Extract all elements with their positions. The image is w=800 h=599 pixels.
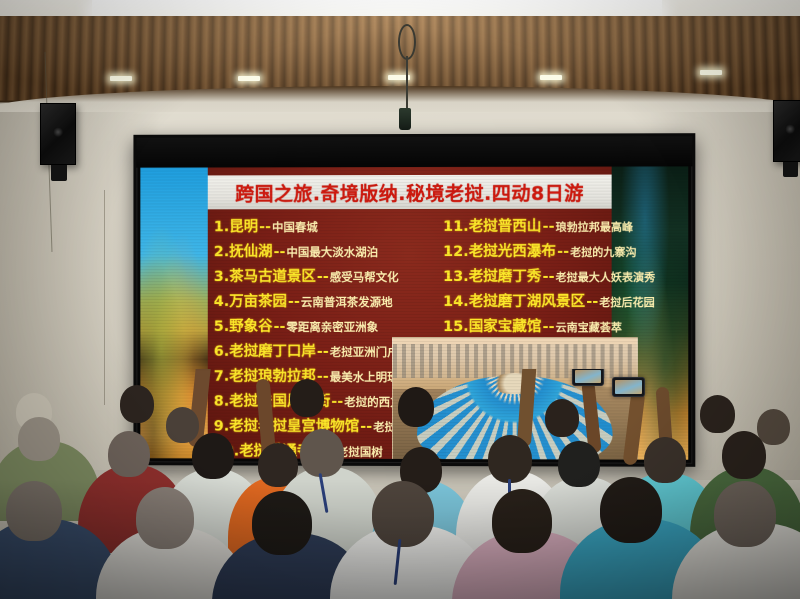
audience-head [714,481,776,547]
item-title: 老挝普西山 [469,215,542,240]
speaker-bracket-right [783,162,798,177]
item-separator: -- [316,265,330,290]
item-title: 老挝磨丁湖风景区 [469,290,585,315]
item-separator: -- [258,215,272,240]
list-item: 13. 老挝磨丁秀 -- 老挝最大人妖表演秀 [443,265,688,290]
item-number: 12. [443,240,469,265]
audience-head [290,379,324,417]
item-number: 13. [443,265,469,290]
item-separator: -- [272,240,286,265]
smartphone [612,377,645,397]
audience-head [192,433,234,479]
audience-head [488,435,532,483]
item-number: 6. [214,340,230,365]
item-subtitle: 云南普洱茶发源地 [301,290,393,315]
raised-arm [517,369,537,447]
audience-head [300,429,344,477]
itinerary-column-right: 11. 老挝普西山 -- 琅勃拉邦最高峰 12. 老挝光西瀑布 -- 老挝的九寨… [443,215,688,341]
smartphone [572,369,604,386]
list-item: 12. 老挝光西瀑布 -- 老挝的九寨沟 [443,240,688,265]
item-separator: -- [316,340,330,365]
slide-title: 跨国之旅.奇境版纳.秘境老挝.四动8日游 [235,178,584,206]
item-title: 茶马古道景区 [229,265,316,290]
hanging-cable-loop [398,24,416,60]
item-number: 14. [443,290,469,315]
ceiling-light-icon-2 [238,76,260,81]
item-separator: -- [556,240,570,265]
list-item: 11. 老挝普西山 -- 琅勃拉邦最高峰 [443,215,688,240]
audience-head [492,489,552,553]
item-separator: -- [541,215,555,240]
item-title: 野象谷 [229,315,272,340]
audience-head [644,437,686,483]
list-item: 1. 昆明 -- 中国春城 [214,215,441,240]
item-subtitle: 感受马帮文化 [330,265,399,290]
audience-head [722,431,766,479]
item-separator: -- [541,265,555,290]
item-subtitle: 琅勃拉邦最高峰 [556,215,633,240]
item-subtitle: 老挝亚洲门户 [330,340,399,365]
list-item: 3. 茶马古道景区 -- 感受马帮文化 [214,265,441,290]
screen-bezel-top [136,136,692,167]
audience-crowd [0,369,800,599]
speaker-bracket-left [51,165,67,181]
audience-head [757,409,790,445]
item-title: 昆明 [229,215,258,240]
phone-screen [615,380,642,394]
item-separator: -- [287,290,301,315]
hanging-cable-line [406,56,408,111]
audience-head [108,431,150,477]
item-subtitle: 老挝的九寨沟 [570,240,636,265]
phone-screen [575,370,601,383]
wall-speaker-right [773,100,800,162]
item-number: 5. [214,315,230,340]
item-number: 3. [214,265,230,290]
audience-head [18,417,60,461]
list-item: 4. 万亩茶园 -- 云南普洱茶发源地 [214,290,441,315]
slide-title-strip: 跨国之旅.奇境版纳.秘境老挝.四动8日游 [208,175,612,210]
item-subtitle: 老挝最大人妖表演秀 [556,265,656,290]
item-separator: -- [585,290,599,315]
item-subtitle: 老挝后花园 [599,290,654,315]
item-number: 2. [214,240,230,265]
audience-head [6,481,62,541]
item-title: 老挝磨丁秀 [469,265,542,290]
audience-head [558,441,600,487]
audience-head [252,491,312,555]
ceiling-light-icon-1 [110,76,132,81]
list-item: 14. 老挝磨丁湖风景区 -- 老挝后花园 [443,290,688,315]
item-number: 11. [443,215,469,240]
wall-speaker-left [40,103,76,165]
audience-head [166,407,199,443]
item-title: 老挝光西瀑布 [469,240,556,265]
list-item: 2. 抚仙湖 -- 中国最大淡水湖泊 [214,240,441,265]
audience-head [372,481,434,547]
item-title: 万亩茶园 [229,290,287,315]
audience-head [136,487,194,549]
item-subtitle: 中国春城 [272,215,318,240]
item-subtitle: 零距离亲密亚洲象 [286,315,378,340]
audience-head [120,385,154,423]
item-subtitle: 中国最大淡水湖泊 [286,240,378,265]
item-number: 4. [214,290,230,315]
audience-head [545,399,579,437]
audience-head [700,395,735,433]
audience-head [398,387,434,427]
ceiling-light-icon-4 [540,75,562,80]
raised-arm [623,390,646,465]
ceiling-light-icon-5 [700,70,722,75]
item-number: 1. [214,215,230,240]
photo-scene: 跨国之旅.奇境版纳.秘境老挝.四动8日游 1. 昆明 -- 中国春城 2. 抚仙… [0,0,800,599]
speaker-cone-icon [53,127,63,137]
item-title: 抚仙湖 [229,240,272,265]
hanging-cable-connector [399,108,411,130]
audience-head [600,477,662,543]
item-separator: -- [272,315,286,340]
item-title: 老挝磨丁口岸 [229,340,316,365]
speaker-cone-icon [785,124,795,134]
